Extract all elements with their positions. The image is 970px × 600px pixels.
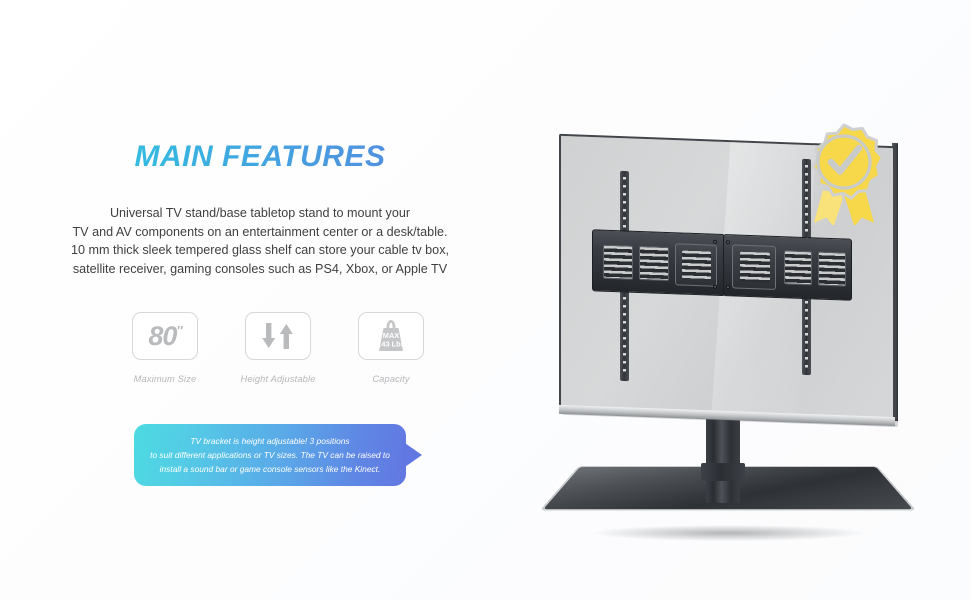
callout-banner: TV bracket is height adjustable! 3 posit… xyxy=(134,424,422,486)
description-line-2: TV and AV components on an entertainment… xyxy=(10,223,510,242)
vent-slots xyxy=(784,250,812,285)
feature-caption-capacity: Capacity xyxy=(344,374,438,384)
bracket-screw xyxy=(713,240,717,244)
callout-line-1: TV bracket is height adjustable! 3 posit… xyxy=(150,434,390,448)
callout-line-3: install a sound bar or game console sens… xyxy=(150,462,390,476)
base-drop-shadow xyxy=(592,525,864,541)
bracket-plate xyxy=(675,243,717,287)
screen-size-value: 80 xyxy=(148,321,176,351)
height-adjustable-icon-box xyxy=(245,312,311,360)
description-line-4: satellite receiver, gaming consoles such… xyxy=(10,260,510,279)
product-photo xyxy=(540,95,960,565)
inch-mark: ″ xyxy=(176,323,181,338)
callout-body: TV bracket is height adjustable! 3 posit… xyxy=(134,424,406,486)
feature-caption-height-adjustable: Height Adjustable xyxy=(231,374,325,384)
feature-capacity: MAX 143 Lbs Capacity xyxy=(344,312,438,384)
award-check-badge-icon xyxy=(792,113,896,225)
description-line-3: 10 mm thick sleek tempered glass shelf c… xyxy=(10,241,510,260)
capacity-weight-label: 143 Lbs xyxy=(377,340,405,349)
vent-slots xyxy=(682,251,711,280)
weight-capacity-icon: MAX 143 Lbs xyxy=(369,317,413,355)
feature-maximum-size: 80″ Maximum Size xyxy=(118,312,212,384)
description-line-1: Universal TV stand/base tabletop stand t… xyxy=(10,204,510,223)
screen-size-icon-box: 80″ xyxy=(132,312,198,360)
callout-text: TV bracket is height adjustable! 3 posit… xyxy=(142,434,398,476)
bracket-right-arm xyxy=(723,234,852,301)
vent-slots xyxy=(603,245,633,280)
screen-size-icon: 80″ xyxy=(148,323,181,350)
column-collar xyxy=(701,463,745,481)
feature-caption-maximum-size: Maximum Size xyxy=(118,374,212,384)
product-feature-banner: MAIN FEATURES Universal TV stand/base ta… xyxy=(0,0,970,600)
tv-mount-bracket xyxy=(592,229,852,301)
capacity-icon-box: MAX 143 Lbs xyxy=(358,312,424,360)
left-content-panel: MAIN FEATURES Universal TV stand/base ta… xyxy=(0,0,520,600)
vent-slots xyxy=(818,252,846,287)
bracket-screw xyxy=(713,285,717,289)
up-down-arrows-icon xyxy=(258,320,298,352)
callout-line-2: to suit different applications or TV siz… xyxy=(150,448,390,462)
bracket-plate xyxy=(732,244,776,290)
feature-spec-row: 80″ Maximum Size Height xyxy=(118,312,438,384)
callout-arrow-tail xyxy=(402,441,422,469)
bracket-screw xyxy=(726,240,730,244)
feature-height-adjustable: Height Adjustable xyxy=(231,312,325,384)
bracket-screw xyxy=(726,285,730,289)
vent-slots xyxy=(740,252,770,283)
product-description: Universal TV stand/base tabletop stand t… xyxy=(10,204,510,278)
vent-slots xyxy=(639,246,669,281)
page-title: MAIN FEATURES xyxy=(0,140,520,174)
bracket-left-arm xyxy=(592,229,725,296)
